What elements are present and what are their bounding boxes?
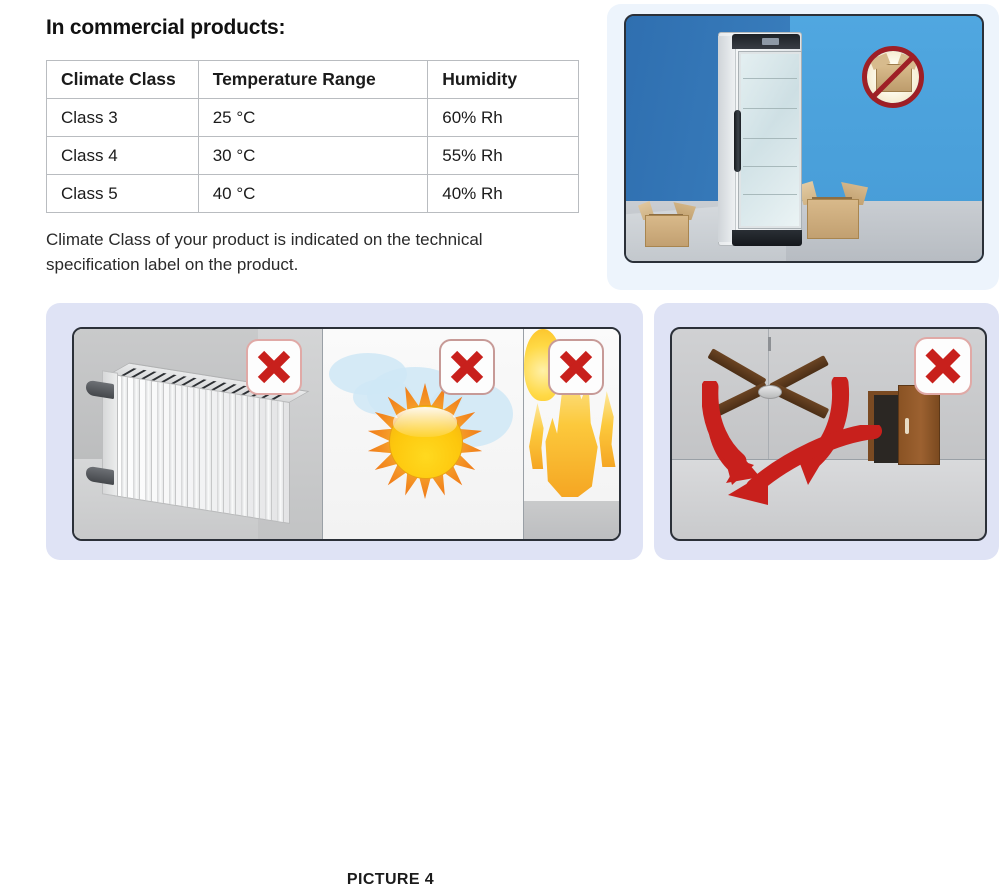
door-handle [734,110,741,172]
cell-temperature: 40 °C [198,175,428,213]
scene-sunlight [323,329,523,539]
cell-humidity: 55% Rh [428,137,579,175]
red-x-badge [548,339,604,395]
display-refrigerator [718,32,802,246]
x-icon [441,341,493,393]
flame [597,391,619,467]
picture-4-panel: PICTURE 4 [46,303,643,560]
draught-arrow [724,425,864,515]
picture-5-panel: PICTURE 5 [654,303,999,560]
glass-door [739,52,801,228]
no-boxes-icon [862,46,924,108]
red-x-badge [914,337,972,395]
x-icon [550,341,602,393]
table-row: Class 4 30 °C 55% Rh [47,137,579,175]
red-x-badge [246,339,302,395]
x-icon [248,341,300,393]
cardboard-box-right [804,181,860,239]
sun-icon [369,385,481,497]
arrow-curved-icon [724,425,884,517]
page-title: In commercial products: [46,16,285,40]
cell-humidity: 40% Rh [428,175,579,213]
x-icon [916,339,970,393]
picture-3-panel: PICTURE 3 [607,4,999,290]
scene-radiator [74,329,322,539]
cell-climate-class: Class 3 [47,99,199,137]
scene-fire [524,329,619,539]
picture-4-image [72,327,621,541]
table-row: Class 3 25 °C 60% Rh [47,99,579,137]
picture-5-image [670,327,987,541]
cell-temperature: 25 °C [198,99,428,137]
cell-climate-class: Class 5 [47,175,199,213]
wall-bracket-top [86,380,114,399]
wall-bracket-bottom [86,466,114,485]
column-header-humidity: Humidity [428,61,579,99]
picture-4-caption: PICTURE 4 [92,871,689,889]
page-root: In commercial products: Climate Class Te… [0,0,1003,600]
control-display [762,38,779,45]
cell-climate-class: Class 4 [47,137,199,175]
column-header-temperature-range: Temperature Range [198,61,428,99]
cardboard-box-left [642,201,690,247]
door-handle-icon [905,418,909,434]
flame [526,403,548,469]
cell-humidity: 60% Rh [428,99,579,137]
cell-temperature: 30 °C [198,137,428,175]
table-row: Class 5 40 °C 40% Rh [47,175,579,213]
column-header-climate-class: Climate Class [47,61,199,99]
climate-class-note: Climate Class of your product is indicat… [46,228,516,277]
climate-class-table: Climate Class Temperature Range Humidity… [46,60,579,213]
picture-3-image [624,14,984,263]
table-header-row: Climate Class Temperature Range Humidity [47,61,579,99]
red-x-badge [439,339,495,395]
